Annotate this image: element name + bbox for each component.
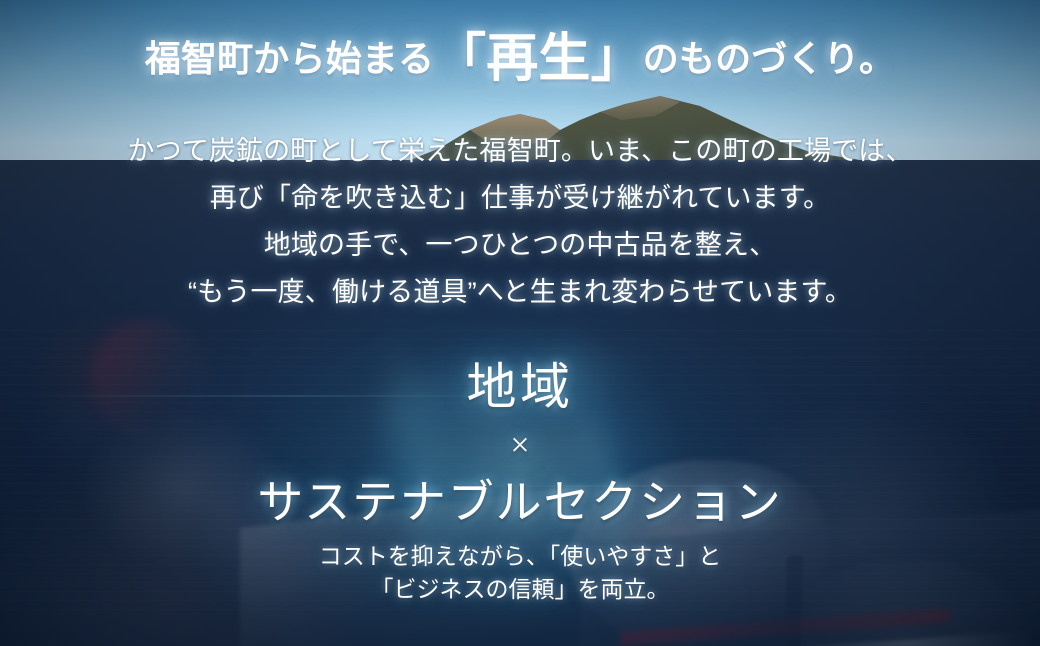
brand-block: 地域 × サステナブルセクション <box>0 357 1040 531</box>
brand-top-label: 地域 <box>0 357 1040 417</box>
lead-line: 再び「命を吹き込む」仕事が受け継がれています。 <box>0 175 1040 222</box>
lead-line: 地域の手で、一つひとつの中古品を整え、 <box>0 222 1040 269</box>
lead-line: かつて炭鉱の町として栄えた福智町。いま、この町の工場では、 <box>0 128 1040 175</box>
brand-bottom-label: サステナブルセクション <box>0 475 1040 531</box>
headline-part-1: 福智町から始まる <box>145 38 434 79</box>
headline-emphasis: 「再生」 <box>434 30 643 88</box>
tagline-line: 「ビジネスの信頼」を両立。 <box>0 573 1040 606</box>
headline-part-2: のものづくり。 <box>643 38 895 79</box>
brand-separator-icon: × <box>0 417 1040 475</box>
lead-line: “もう一度、働ける道具”へと生まれ変わらせています。 <box>0 269 1040 316</box>
promo-banner: 福智町から始まる「再生」のものづくり。 かつて炭鉱の町として栄えた福智町。いま、… <box>0 0 1040 646</box>
tagline-line: コストを抑えながら、「使いやすさ」と <box>0 540 1040 573</box>
headline: 福智町から始まる「再生」のものづくり。 <box>0 33 1040 85</box>
lead-paragraph: かつて炭鉱の町として栄えた福智町。いま、この町の工場では、 再び「命を吹き込む」… <box>0 128 1040 316</box>
tagline: コストを抑えながら、「使いやすさ」と 「ビジネスの信頼」を両立。 <box>0 540 1040 606</box>
